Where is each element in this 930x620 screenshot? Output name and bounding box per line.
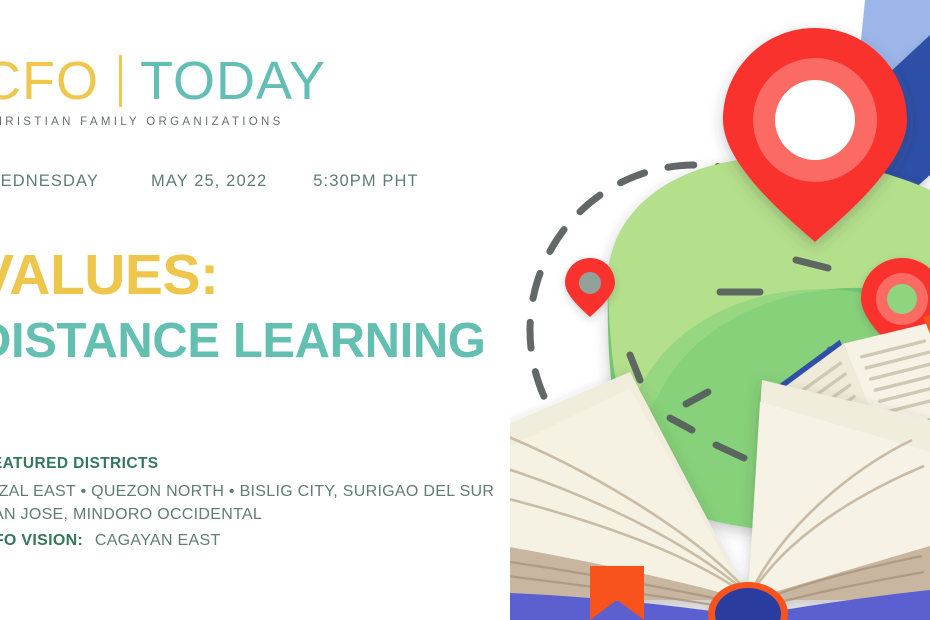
featured-districts-line-1: RIZAL EAST • QUEZON NORTH • BISLIG CITY,… [0,480,494,503]
logo-divider [119,55,122,107]
blue-ruler-shape [822,0,930,250]
event-time: 5:30PM PHT [313,172,418,191]
headline-line-2: DISTANCE LEARNING [0,317,486,367]
map-pin-medium-right-icon [861,258,930,356]
page-title: VALUES: DISTANCE LEARNING [0,248,486,367]
logo-primary-text: CFO [0,54,99,108]
cfo-vision-value: CAGAYAN EAST [95,532,221,549]
featured-districts-heading: FEATURED DISTRICTS [0,455,494,473]
open-book-small-icon [760,302,930,483]
map-dash-marks [630,260,858,458]
poster-canvas: CFO TODAY CHRISTIAN FAMILY ORGANIZATIONS… [0,0,930,620]
featured-districts-block: FEATURED DISTRICTS RIZAL EAST • QUEZON N… [0,455,494,550]
logo-secondary-text: TODAY [140,54,326,108]
featured-districts-line-2: SAN JOSE, MINDORO OCCIDENTAL [0,503,494,526]
cfo-vision-row: CFO VISION: CAGAYAN EAST [0,532,494,550]
headline-line-1: VALUES: [0,248,486,304]
cfo-today-logo: CFO TODAY CHRISTIAN FAMILY ORGANIZATIONS [0,50,326,128]
green-map-shape [608,158,930,532]
event-datetime-bar: WEDNESDAY MAY 25, 2022 5:30PM PHT [0,172,419,191]
map-pin-large-icon [723,28,907,242]
event-date: MAY 25, 2022 [151,172,267,191]
cfo-vision-label: CFO VISION: [0,532,83,549]
poster-text-content: CFO TODAY CHRISTIAN FAMILY ORGANIZATIONS… [0,0,602,620]
event-day: WEDNESDAY [0,172,99,191]
logo-tagline: CHRISTIAN FAMILY ORGANIZATIONS [0,116,326,128]
